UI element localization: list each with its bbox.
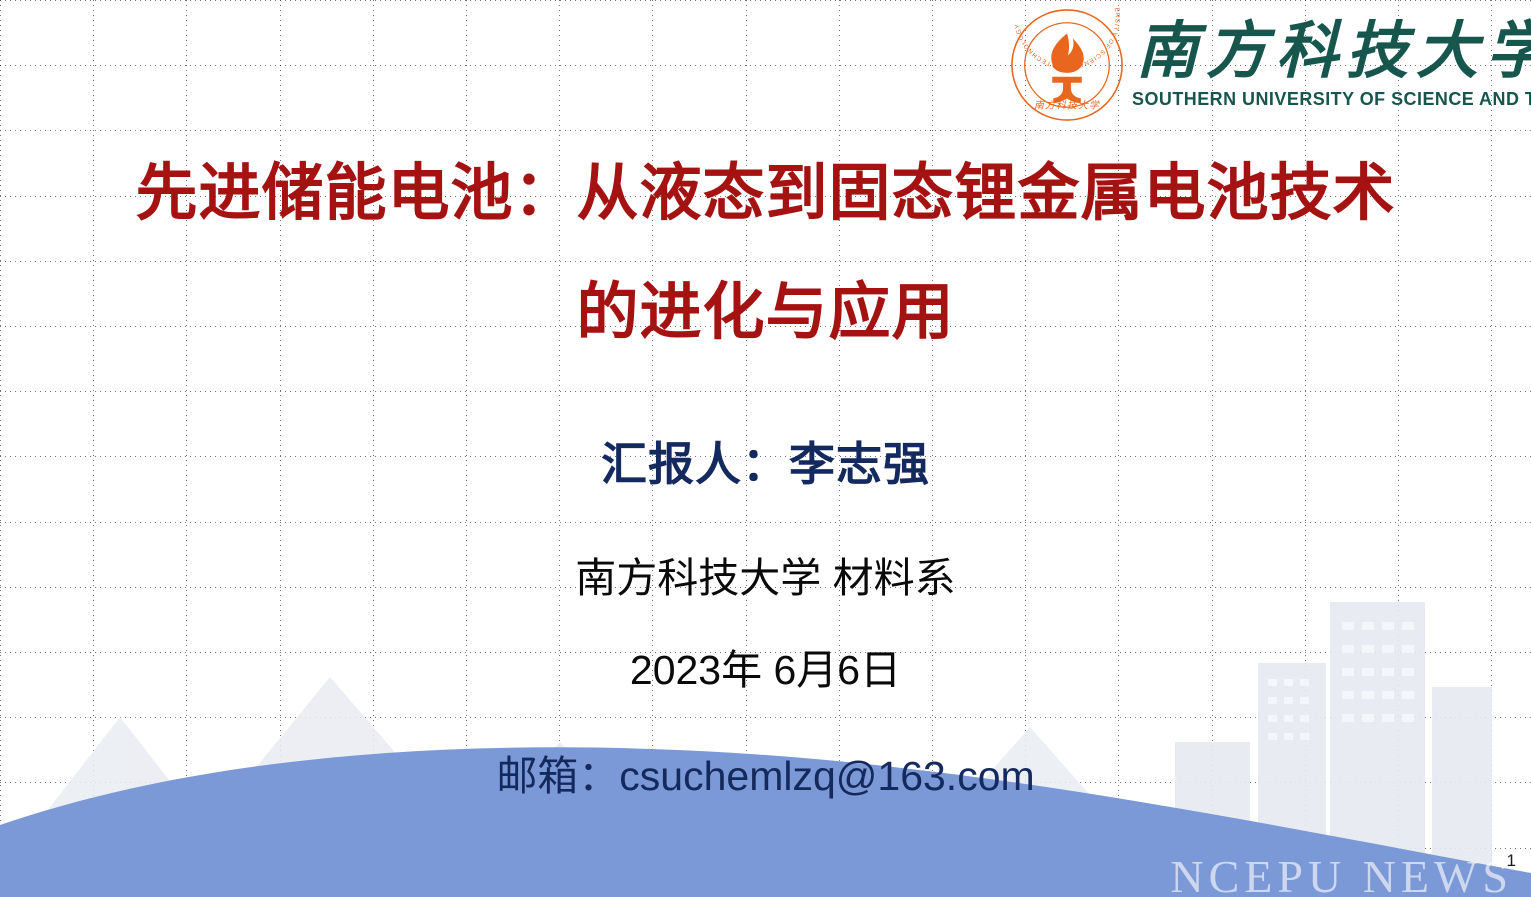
logo-wordmark: 南方科技大学 SOUTHERN UNIVERSITY OF SCIENCE AN…: [1132, 6, 1531, 124]
page-number: 1: [1507, 851, 1516, 871]
date-line: 2023年 6月6日: [0, 650, 1531, 691]
grid-line-horizontal: [0, 391, 1531, 392]
grid-line-horizontal: [0, 717, 1531, 718]
university-logo: SOUTHERN UNIVERSITY OF SCIENCE AND TECHN…: [1008, 6, 1523, 124]
grid-line-horizontal: [0, 261, 1531, 262]
logo-chinese-name: 南方科技大学: [1132, 21, 1531, 83]
affiliation-line: 南方科技大学 材料系: [0, 558, 1531, 599]
grid-line-horizontal: [0, 0, 1531, 1]
sustech-torch-emblem-icon: SOUTHERN UNIVERSITY OF SCIENCE AND TECHN…: [1008, 6, 1126, 124]
presenter-line: 汇报人：李志强: [0, 441, 1531, 487]
email-line: 邮箱：csuchemlzq@163.com: [0, 756, 1531, 797]
grid-line-horizontal: [0, 848, 1531, 849]
logo-english-name: SOUTHERN UNIVERSITY OF SCIENCE AND TECHN…: [1132, 90, 1531, 109]
presentation-slide: NCEPU NEWS SOUTHERN UNIVERSITY OF SCIENC…: [0, 0, 1531, 897]
svg-text:南方科技大学: 南方科技大学: [1034, 99, 1100, 111]
slide-title-line-2: 的进化与应用: [0, 282, 1531, 344]
grid-line-horizontal: [0, 130, 1531, 131]
grid-line-horizontal: [0, 522, 1531, 523]
slide-title-line-1: 先进储能电池：从液态到固态锂金属电池技术: [0, 163, 1531, 225]
